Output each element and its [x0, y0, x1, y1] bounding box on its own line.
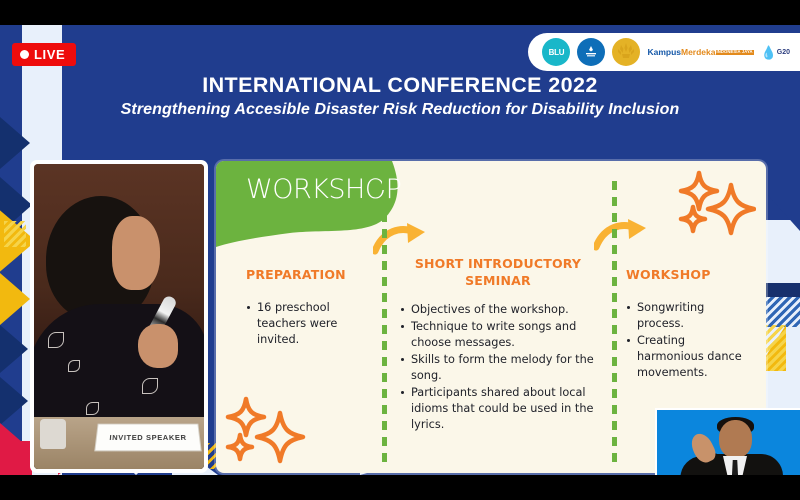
bullet-list: Songwriting process. Creating harmonious…	[626, 300, 754, 381]
list-item: Technique to write songs and choose mess…	[400, 319, 602, 351]
column-heading: WORKSHOP	[626, 267, 754, 284]
page-title: INTERNATIONAL CONFERENCE 2022	[0, 73, 800, 98]
list-item: Creating harmonious dance movements.	[626, 333, 754, 381]
batik-motif-icon	[142, 378, 158, 394]
list-item: Skills to form the melody for the song.	[400, 352, 602, 384]
nameplate-label: INVITED SPEAKER	[109, 433, 187, 442]
water-bottle	[40, 419, 66, 449]
kampus-merdeka-logo: Kampus Merdeka INDONESIA JAYA	[647, 48, 753, 57]
list-item: Objectives of the workshop.	[400, 302, 602, 318]
logo-strip: BLU	[528, 33, 800, 71]
batik-motif-icon	[48, 332, 64, 348]
list-item: 16 preschool teachers were invited.	[246, 300, 368, 348]
list-item: Songwriting process.	[626, 300, 754, 332]
column-heading: PREPARATION	[246, 267, 368, 284]
g20-logo: 💧 G20	[761, 46, 790, 59]
live-label: LIVE	[34, 47, 65, 62]
video-stream: LIVE BLU	[0, 25, 800, 475]
speaker-video-tile[interactable]: INVITED SPEAKER	[30, 160, 208, 473]
sparkle-icon	[676, 167, 756, 237]
sign-language-interpreter-tile[interactable]	[655, 408, 800, 475]
speaker-face	[112, 216, 160, 290]
bullet-list: 16 preschool teachers were invited.	[246, 300, 368, 348]
blu-logo: BLU	[542, 38, 570, 66]
live-badge: LIVE	[12, 43, 76, 66]
speaker-hand	[138, 324, 178, 368]
unesa-logo	[612, 38, 640, 66]
slide-column-preparation: PREPARATION 16 preschool teachers were i…	[216, 239, 382, 473]
batik-motif-icon	[86, 402, 99, 415]
bullet-list: Objectives of the workshop. Technique to…	[400, 302, 602, 433]
slide-column-seminar: SHORT INTRODUCTORY SEMINAR Objectives of…	[382, 239, 612, 473]
g20-flame-icon: 💧	[761, 46, 777, 59]
kemendikbud-logo	[577, 38, 605, 66]
page-subtitle: Strengthening Accesible Disaster Risk Re…	[0, 101, 800, 119]
screen: LIVE BLU	[0, 0, 800, 500]
batik-motif-icon	[68, 360, 80, 372]
interpreter-face	[719, 420, 752, 458]
speaker-video-frame: INVITED SPEAKER	[34, 164, 204, 469]
column-heading: SHORT INTRODUCTORY SEMINAR	[400, 256, 602, 290]
record-dot-icon	[20, 50, 29, 59]
list-item: Participants shared about local idioms t…	[400, 385, 602, 433]
workshop-badge-label: WORKSHOP	[246, 174, 401, 205]
nameplate: INVITED SPEAKER	[94, 424, 201, 452]
